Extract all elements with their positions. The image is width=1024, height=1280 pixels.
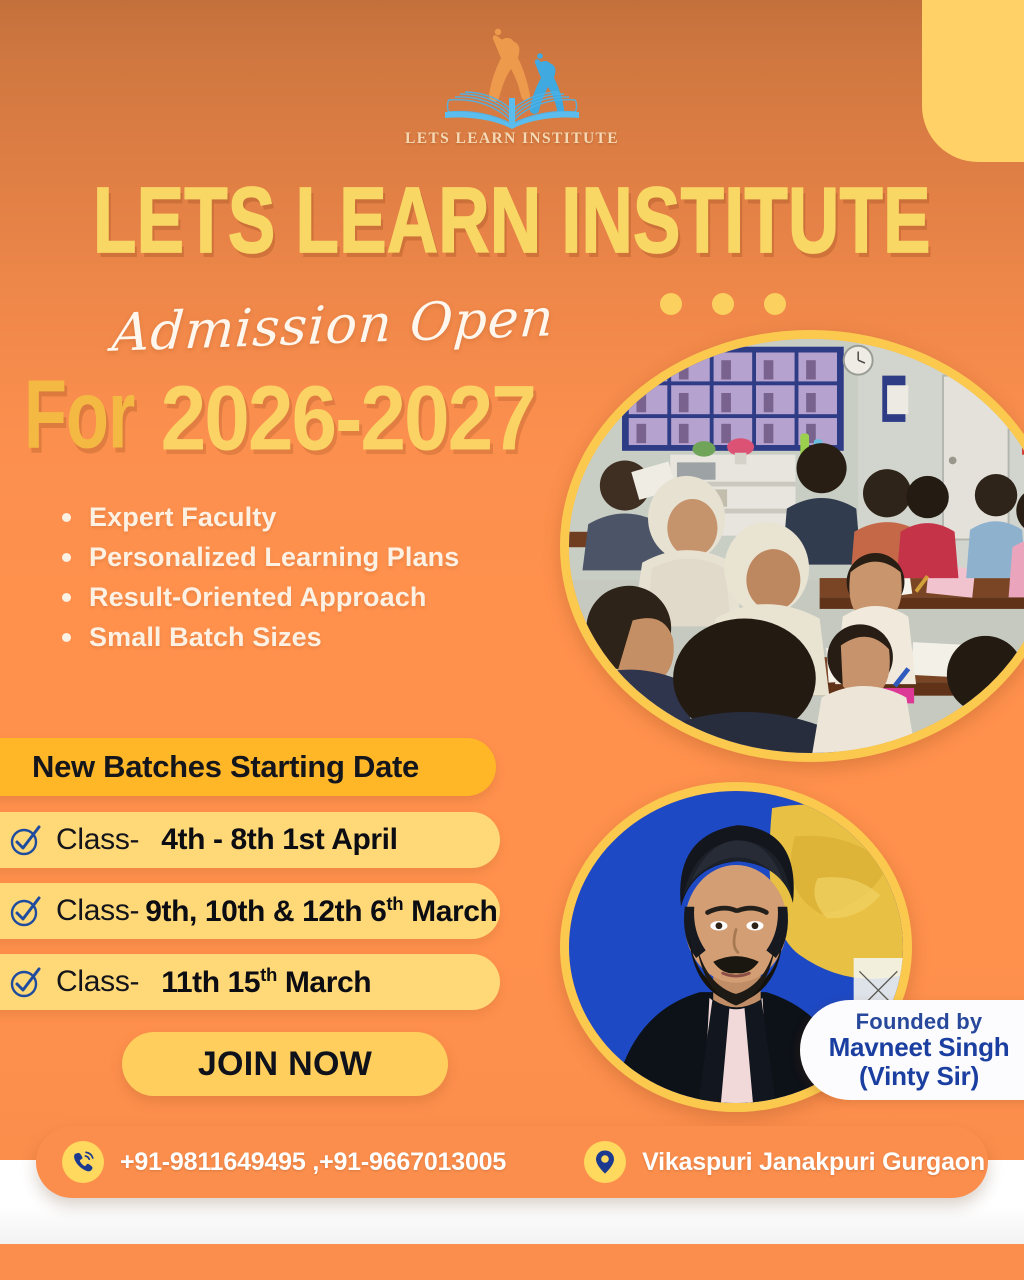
features-list: Expert Faculty Personalized Learning Pla… <box>62 502 459 662</box>
batch-date-value: 11th 15th March <box>161 964 371 1000</box>
contact-bar: +91-9811649495 ,+91-9667013005 Vikaspuri… <box>36 1126 988 1198</box>
founder-credit-card: Founded by Mavneet Singh (Vinty Sir) <box>800 1000 1024 1100</box>
decorative-dot-icon <box>660 293 682 315</box>
feature-label: Small Batch Sizes <box>89 622 322 653</box>
admission-open-tagline: Admission Open <box>110 288 556 364</box>
classroom-photo: AEROPOS <box>560 330 1024 762</box>
batch-date-value: 4th - 8th 1st April <box>161 823 397 857</box>
feature-label: Expert Faculty <box>89 502 276 533</box>
feature-label: Result-Oriented Approach <box>89 582 426 613</box>
bottom-orange-strip <box>0 1244 1024 1280</box>
decorative-dot-icon <box>764 293 786 315</box>
founder-alias-text: (Vinty Sir) <box>859 1062 979 1091</box>
page-title: LETS LEARN INSTITUTE <box>36 168 988 274</box>
check-circle-icon <box>8 823 42 857</box>
founder-prefix-text: Founded by <box>856 1010 983 1033</box>
batch-row: Class- 11th 15th March <box>0 954 500 1010</box>
contact-location[interactable]: Vikaspuri Janakpuri Gurgaon <box>584 1141 985 1183</box>
map-pin-icon <box>584 1141 626 1183</box>
session-year-line: For 2026-2027 <box>24 378 535 472</box>
feature-label: Personalized Learning Plans <box>89 542 459 573</box>
list-item: Small Batch Sizes <box>62 622 459 653</box>
list-item: Personalized Learning Plans <box>62 542 459 573</box>
bullet-dot-icon <box>62 513 71 522</box>
phone-number-text: +91-9811649495 ,+91-9667013005 <box>120 1148 506 1177</box>
location-text: Vikaspuri Janakpuri Gurgaon <box>642 1148 985 1177</box>
check-circle-icon <box>8 894 42 928</box>
year-range-text: 2026-2027 <box>161 367 535 472</box>
classroom-photo-illustration: AEROPOS <box>569 339 1024 755</box>
decorative-dot-icon <box>712 293 734 315</box>
batch-heading-text: New Batches Starting Date <box>32 749 419 785</box>
decorative-dots <box>660 293 786 315</box>
poster-canvas: LETS LEARN INSTITUTE LETS LEARN INSTITUT… <box>0 0 1024 1280</box>
batch-heading-pill: New Batches Starting Date <box>0 738 496 796</box>
list-item: Expert Faculty <box>62 502 459 533</box>
year-prefix-text: For <box>24 357 134 471</box>
brand-logo: LETS LEARN INSTITUTE <box>0 24 1024 148</box>
check-circle-icon <box>8 965 42 999</box>
batch-class-label: Class- <box>56 965 139 999</box>
batch-date-value: 9th, 10th & 12th 6th March <box>145 893 497 929</box>
join-now-button[interactable]: JOIN NOW <box>122 1032 448 1096</box>
bullet-dot-icon <box>62 593 71 602</box>
join-now-label: JOIN NOW <box>198 1045 372 1084</box>
list-item: Result-Oriented Approach <box>62 582 459 613</box>
batch-row: Class- 4th - 8th 1st April <box>0 812 500 868</box>
logo-wordmark: LETS LEARN INSTITUTE <box>405 130 619 148</box>
bullet-dot-icon <box>62 633 71 642</box>
phone-ringing-icon <box>62 1141 104 1183</box>
batch-row: Class- 9th, 10th & 12th 6th March <box>0 883 500 939</box>
founder-name-text: Mavneet Singh <box>829 1033 1010 1062</box>
contact-phone[interactable]: +91-9811649495 ,+91-9667013005 <box>62 1141 506 1183</box>
batch-class-label: Class- <box>56 894 139 928</box>
bullet-dot-icon <box>62 553 71 562</box>
batch-class-label: Class- <box>56 823 139 857</box>
open-book-with-figures-logo-icon <box>427 24 597 136</box>
